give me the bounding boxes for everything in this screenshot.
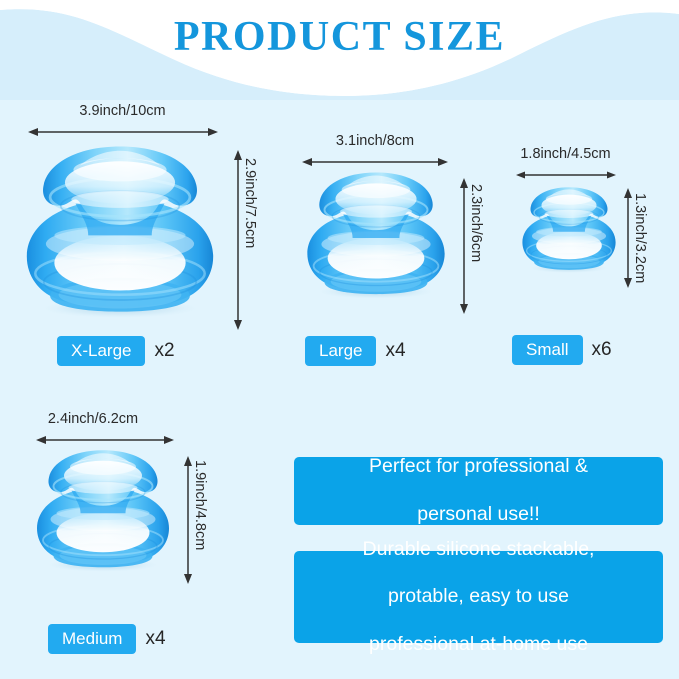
info-features-line-2: protable, easy to use — [304, 585, 653, 609]
medium-count: x4 — [145, 628, 165, 650]
small-width-label: 1.8inch/4.5cm — [503, 146, 628, 162]
badge-medium[interactable]: Medium — [48, 624, 136, 654]
small-count: x6 — [592, 339, 612, 361]
small-width-arrow — [516, 169, 616, 181]
info-box-features: Durable silicone stackable, protable, ea… — [294, 551, 663, 643]
product-size-infographic: PRODUCT SIZE — [0, 0, 679, 679]
info-features-line-3: professional at-home use — [304, 633, 653, 657]
large-count: x4 — [385, 340, 405, 362]
small-cup-image — [516, 183, 622, 273]
medium-badge-row: Medium x4 — [48, 624, 166, 654]
product-block-x-large: 3.9inch/10cm 2.9inch/7.5cm X-Large x2 — [0, 100, 265, 380]
large-width-label: 3.1inch/8cm — [300, 133, 450, 149]
small-badge-row: Small x6 — [512, 335, 612, 365]
info-box-use-case: Perfect for professional & personal use!… — [294, 457, 663, 525]
medium-cup-image — [28, 444, 178, 572]
badge-large[interactable]: Large — [305, 336, 376, 366]
silicone-cupping-cup-icon — [298, 166, 454, 299]
small-height-label: 1.3inch/3.2cm — [632, 193, 648, 283]
badge-x-large[interactable]: X-Large — [57, 336, 145, 366]
medium-width-label: 2.4inch/6.2cm — [18, 411, 168, 427]
large-badge-row: Large x4 — [305, 336, 406, 366]
badge-small[interactable]: Small — [512, 335, 583, 365]
product-block-medium: 2.4inch/6.2cm 1.9inch/4.8cm Medium x4 — [0, 408, 270, 668]
x-large-width-label: 3.9inch/10cm — [30, 103, 215, 119]
large-height-label: 2.3inch/6cm — [468, 184, 484, 262]
info-use-case-line-2: personal use!! — [304, 503, 653, 527]
x-large-badge-row: X-Large x2 — [57, 336, 175, 366]
info-use-case-line-1: Perfect for professional & — [304, 455, 653, 479]
silicone-cupping-cup-icon — [14, 138, 226, 318]
page-title: PRODUCT SIZE — [0, 13, 679, 61]
silicone-cupping-cup-icon — [516, 183, 622, 273]
x-large-cup-image — [14, 138, 226, 318]
x-large-count: x2 — [154, 340, 174, 362]
large-cup-image — [298, 166, 454, 299]
product-block-small: 1.8inch/4.5cm 1.3inch/3.2cm Small x6 — [500, 143, 679, 383]
x-large-width-arrow — [28, 126, 218, 138]
medium-height-label: 1.9inch/4.8cm — [192, 460, 208, 550]
info-features-line-1: Durable silicone stackable, — [304, 538, 653, 562]
x-large-height-label: 2.9inch/7.5cm — [242, 158, 258, 248]
product-block-large: 3.1inch/8cm 2.3inch/6cm Large x4 — [290, 130, 490, 380]
silicone-cupping-cup-icon — [28, 444, 178, 572]
